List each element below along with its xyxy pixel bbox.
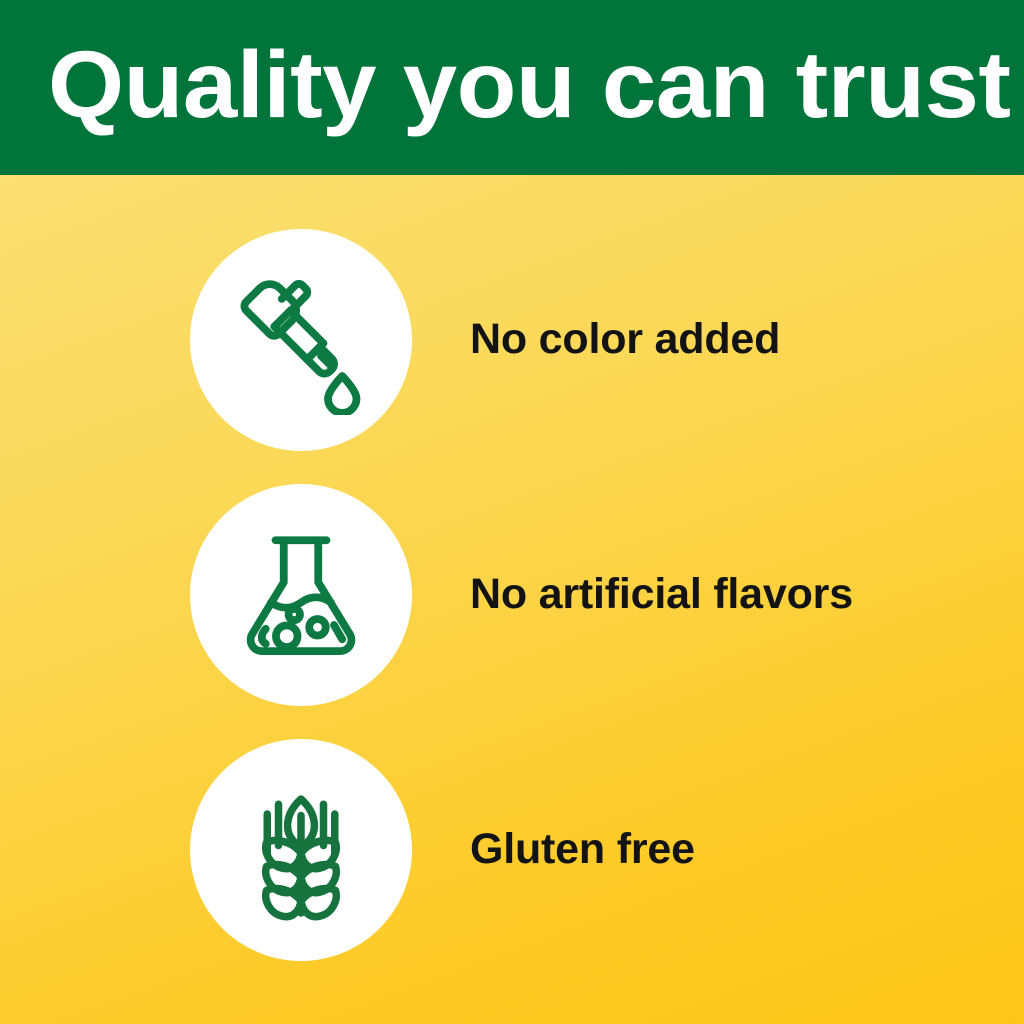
feature-badge-no-artificial-flavors — [190, 484, 412, 706]
feature-row: No artificial flavors — [190, 467, 1024, 722]
feature-list: No color added — [0, 175, 1024, 1024]
quality-promo-card: Quality you can trust — [0, 0, 1024, 1024]
header-bar: Quality you can trust — [0, 0, 1024, 175]
feature-row: No color added — [190, 212, 1024, 467]
feature-row: Gluten free — [190, 722, 1024, 977]
feature-label: Gluten free — [470, 826, 695, 873]
wheat-icon — [226, 775, 376, 925]
feature-badge-no-color-added — [190, 229, 412, 451]
feature-badge-gluten-free — [190, 739, 412, 961]
feature-label: No artificial flavors — [470, 571, 853, 618]
feature-label: No color added — [470, 316, 780, 363]
page-title: Quality you can trust — [48, 38, 1010, 133]
flask-icon — [226, 520, 376, 670]
dropper-icon — [226, 265, 376, 415]
